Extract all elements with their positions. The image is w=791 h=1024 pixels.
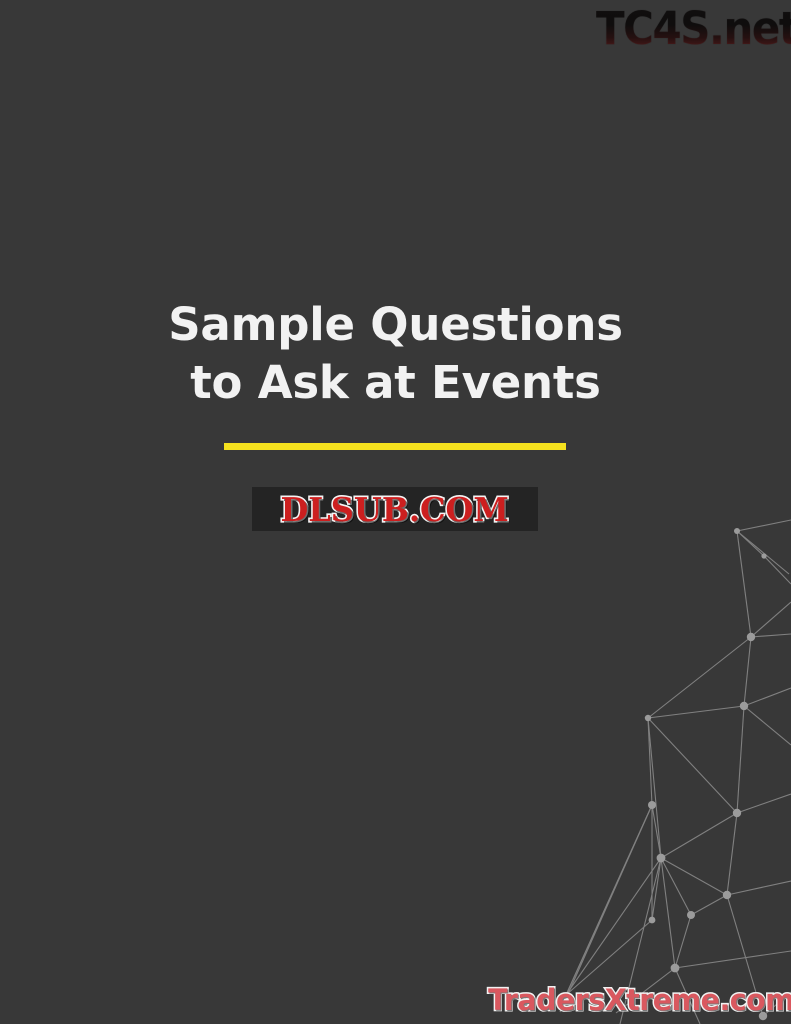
watermark-tc4s: TC4S.net <box>596 2 791 60</box>
page-title: Sample Questions to Ask at Events <box>0 296 791 412</box>
network-nodes <box>645 528 767 1020</box>
dlsub-logo-badge: DLSUB.COM <box>252 487 538 531</box>
dlsub-logo-label: DLSUB.COM <box>281 493 509 526</box>
watermark-tc4s-label: TC4S.net <box>596 2 791 56</box>
watermark-tradersxtreme: TradersXtreme.com <box>485 980 791 1020</box>
page-title-line-2: to Ask at Events <box>0 354 791 412</box>
watermark-tradersxtreme-label: TradersXtreme.com <box>488 983 791 1017</box>
yellow-divider <box>224 443 566 450</box>
page-title-line-1: Sample Questions <box>0 296 791 354</box>
document-cover-page: TC4S.net Sample Questions to Ask at Even… <box>0 0 791 1024</box>
network-edges <box>560 520 791 1024</box>
